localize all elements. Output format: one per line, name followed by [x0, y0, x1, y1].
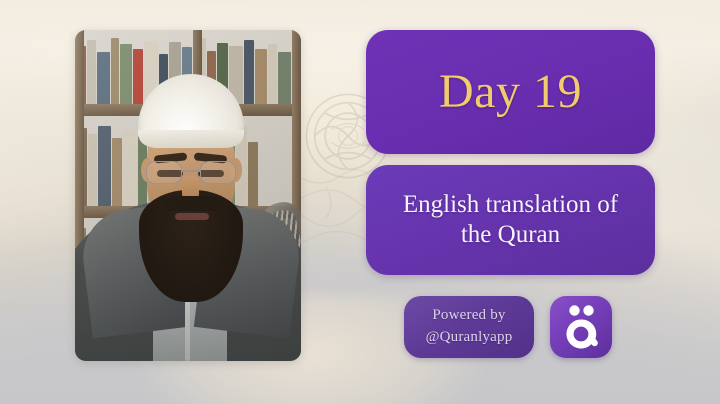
series-title-line2: the Quran	[461, 221, 560, 248]
series-title: English translation of the Quran	[403, 190, 618, 251]
footer-attribution-row: Powered by @Quranlyapp	[404, 291, 614, 363]
series-title-line1: English translation of	[403, 191, 618, 218]
day-counter-card: Day 19	[366, 30, 655, 154]
video-overlay-graphic: Day 19 English translation of the Quran …	[0, 0, 720, 404]
video-inner-frame	[75, 30, 301, 361]
quranly-app-logo-icon[interactable]	[550, 296, 612, 358]
powered-by-pill[interactable]: Powered by @Quranlyapp	[404, 296, 534, 358]
day-label: Day 19	[439, 68, 582, 116]
powered-by-label: Powered by	[432, 305, 505, 327]
series-title-card: English translation of the Quran	[366, 165, 655, 275]
video-glare-overlay	[75, 30, 301, 361]
speaker-video-thumbnail[interactable]	[75, 30, 301, 361]
app-handle-label: @Quranlyapp	[426, 327, 513, 349]
